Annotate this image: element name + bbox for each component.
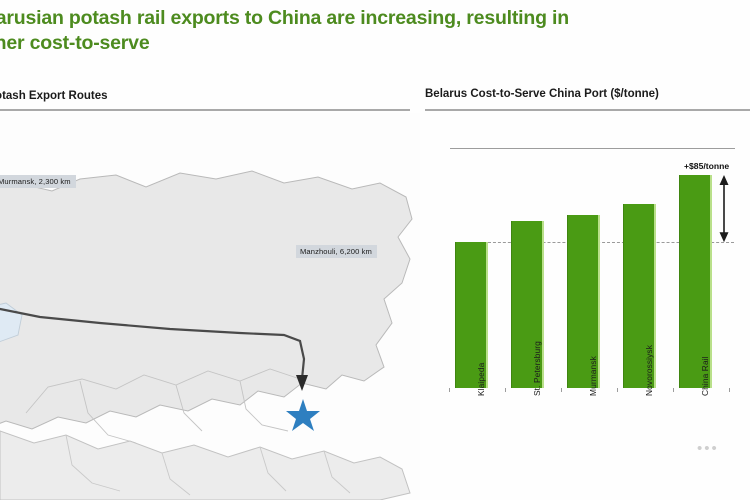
x-label-china-rail: China Rail [700, 356, 710, 396]
x-label-murmansk: Murmansk [588, 356, 598, 396]
x-axis-tick [673, 388, 674, 392]
cost-to-serve-chart-panel: Belarus Cost-to-Serve China Port ($/tonn… [425, 88, 750, 500]
delta-double-arrow-icon [716, 175, 732, 242]
bar-chart-plot: Klaipeda St. Petersburg Murmansk Novoros… [445, 148, 745, 388]
x-axis-tick [729, 388, 730, 392]
world-map-graphic [0, 113, 420, 500]
x-axis-tick [505, 388, 506, 392]
x-axis-line [450, 148, 735, 149]
x-label-st-petersburg: St. Petersburg [532, 341, 542, 396]
x-label-novorossiysk: Novorossiysk [644, 345, 654, 396]
chart-title: Belarus Cost-to-Serve China Port ($/tonn… [425, 88, 659, 100]
more-indicator: ••• [697, 440, 719, 457]
x-label-klaipeda: Klaipeda [476, 363, 486, 396]
map-panel-header: Belarus Potash Export Routes [0, 90, 108, 102]
page-title-line-1: Belarusian potash rail exports to China … [0, 6, 750, 31]
page-title: Belarusian potash rail exports to China … [0, 6, 750, 56]
map-label-murmansk: Murmansk, 2,300 km [0, 175, 76, 188]
slide-canvas: Belarusian potash rail exports to China … [0, 0, 750, 500]
delta-annotation-label: +$85/tonne [684, 161, 729, 171]
map-header-rule [0, 109, 410, 111]
page-title-line-2: higher cost-to-serve [0, 31, 750, 56]
chart-header-rule [425, 109, 750, 111]
x-axis-tick [561, 388, 562, 392]
export-routes-map: Murmansk, 2,300 km Manzhouli, 6,200 km [0, 113, 420, 500]
x-axis-tick [617, 388, 618, 392]
x-axis-tick [449, 388, 450, 392]
map-label-manzhouli: Manzhouli, 6,200 km [296, 245, 377, 258]
